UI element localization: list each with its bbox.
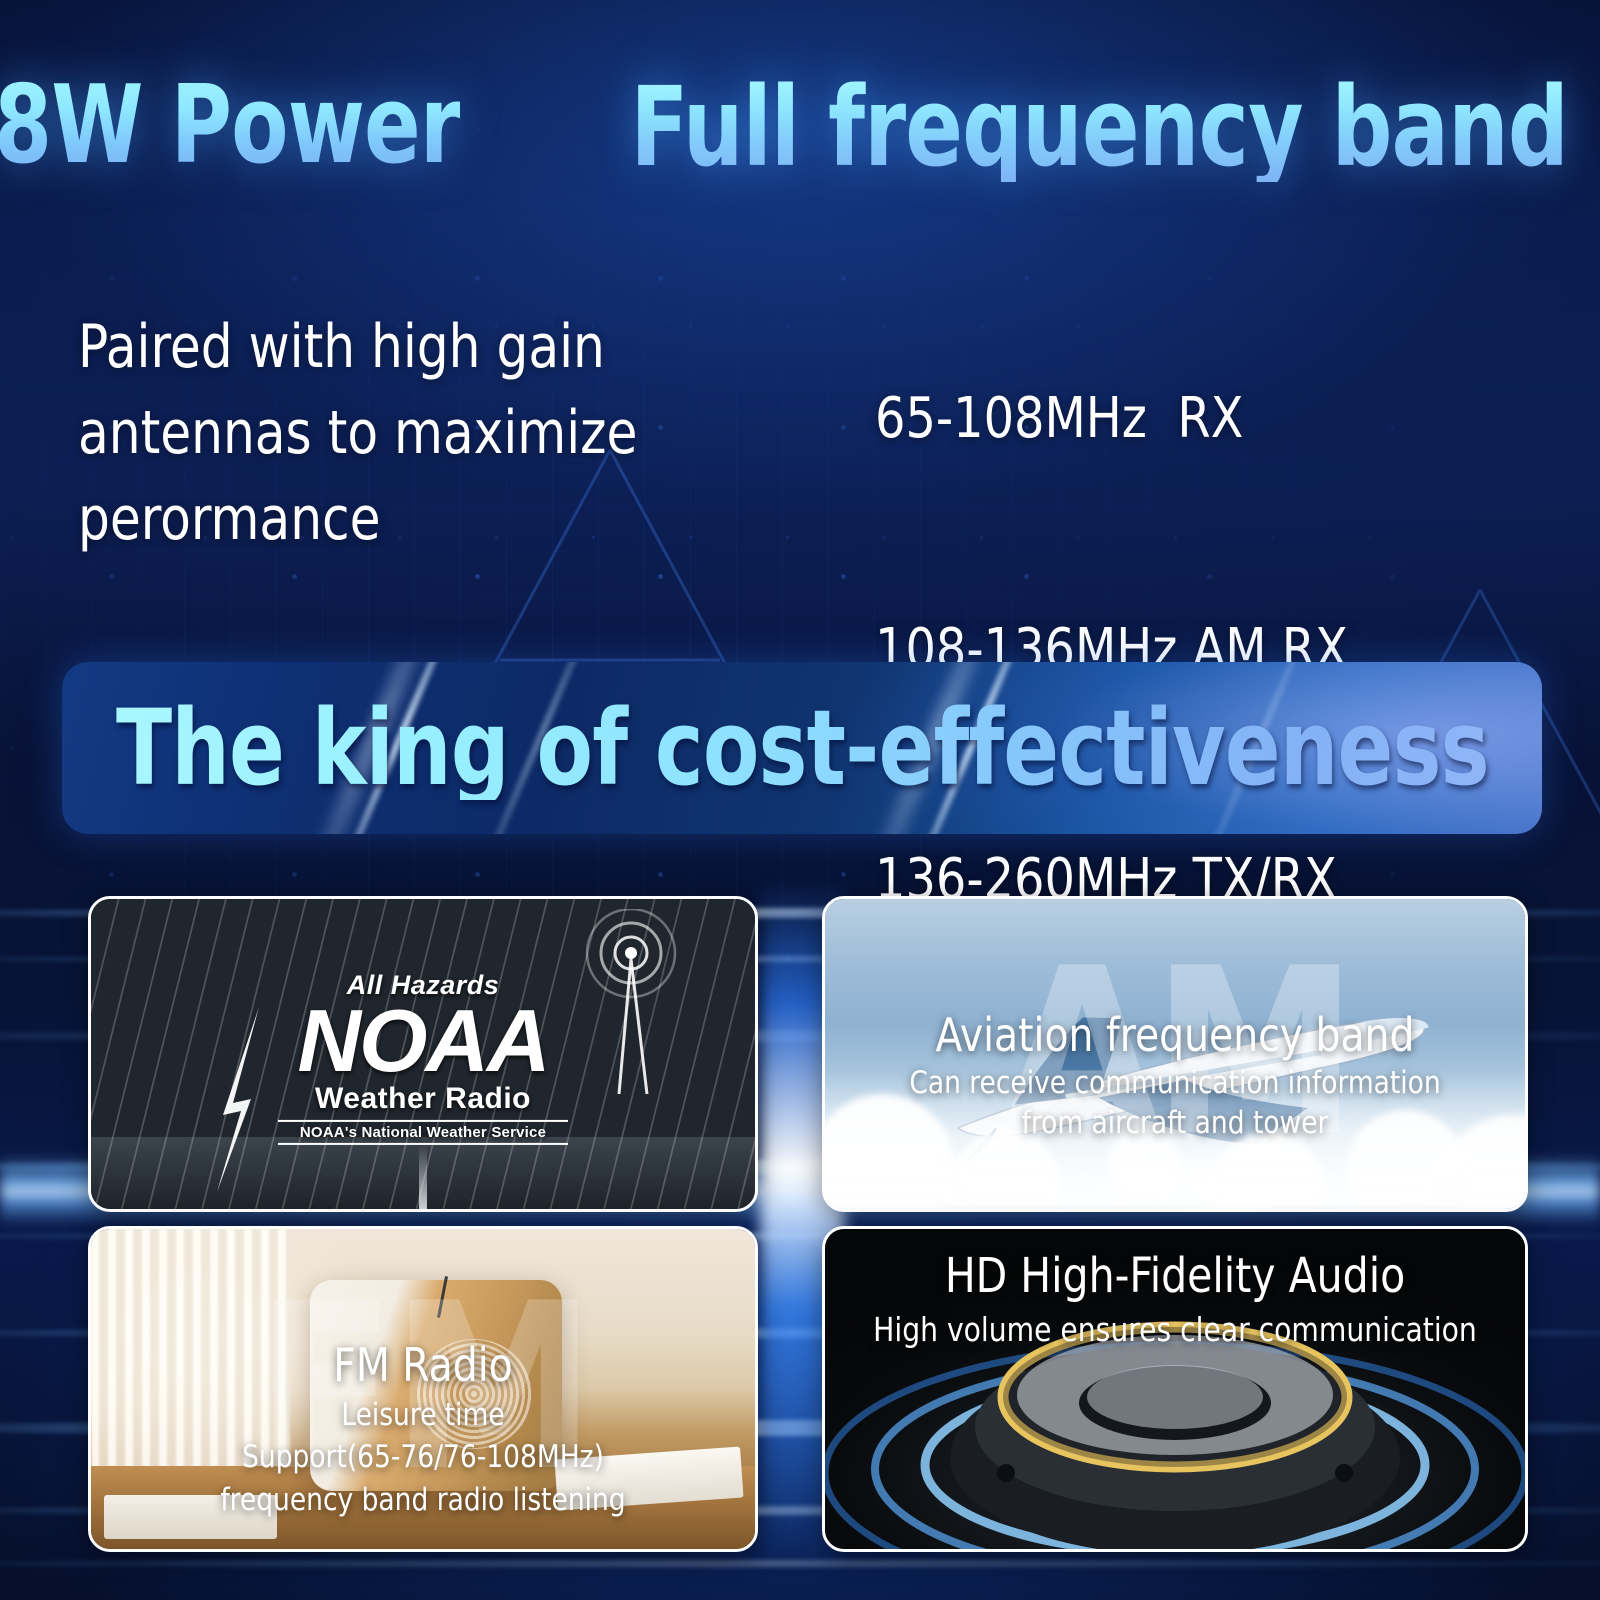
promo-poster: 8W Power Full frequency band Paired with… (0, 0, 1600, 1600)
headline-frequency-band: Full frequency band (630, 72, 1568, 182)
noaa-storm-photo: All Hazards NOAA Weather Radio NOAA's Na… (91, 899, 755, 1209)
hd-caption: HD High-Fidelity Audio High volume ensur… (825, 1251, 1525, 1349)
fm-sub-line2: Support(65-76/76-108MHz) (108, 1440, 739, 1475)
fm-title: FM Radio (108, 1341, 739, 1390)
antenna (437, 1276, 448, 1318)
fm-sub-line1: Leisure time (108, 1398, 739, 1433)
card-noaa-weather-radio[interactable]: All Hazards NOAA Weather Radio NOAA's Na… (88, 896, 758, 1212)
aviation-sub-line2: from aircraft and tower (843, 1106, 1508, 1141)
noaa-logo-line3: Weather Radio (278, 1082, 568, 1116)
hd-sub-line1: High volume ensures clear communication (843, 1312, 1508, 1349)
cost-effectiveness-banner: The king of cost-effectiveness (62, 662, 1542, 834)
fm-radio-photo: FM FM Radio Leisure time Support(65-76/7… (91, 1229, 755, 1549)
fm-caption: FM Radio Leisure time Support(65-76/76-1… (91, 1341, 755, 1518)
card-aviation-frequency-band[interactable]: AM Aviation frequency band Can receive c… (822, 896, 1528, 1212)
aviation-sub-line1: Can receive communication information (843, 1066, 1508, 1101)
aviation-sky-photo: AM Aviation frequency band Can receive c… (825, 899, 1525, 1209)
hd-speaker-photo: HD High-Fidelity Audio High volume ensur… (825, 1229, 1525, 1549)
card-hd-audio[interactable]: HD High-Fidelity Audio High volume ensur… (822, 1226, 1528, 1552)
frequency-row: 65-108MHz RX (875, 381, 1464, 458)
feature-card-grid: All Hazards NOAA Weather Radio NOAA's Na… (88, 896, 1522, 1546)
headline-power: 8W Power (0, 72, 460, 180)
banner-title: The king of cost-effectiveness (116, 696, 1489, 800)
aviation-caption: Aviation frequency band Can receive comm… (825, 1011, 1525, 1141)
lightning-bolt-icon (211, 1007, 281, 1192)
fm-sub-line3: frequency band radio listening (108, 1483, 739, 1518)
radio-tower-icon (559, 909, 689, 1099)
noaa-logo-line4: NOAA's National Weather Service (278, 1120, 568, 1145)
aviation-title: Aviation frequency band (843, 1011, 1508, 1060)
hd-title: HD High-Fidelity Audio (843, 1251, 1508, 1302)
card-fm-radio[interactable]: FM FM Radio Leisure time Support(65-76/7… (88, 1226, 758, 1552)
left-description: Paired with high gain antennas to maximi… (78, 305, 692, 562)
headline: 8W Power Full frequency band (0, 72, 1600, 192)
noaa-logo-line2: NOAA (278, 1001, 568, 1080)
noaa-logo: All Hazards NOAA Weather Radio NOAA's Na… (278, 970, 568, 1145)
